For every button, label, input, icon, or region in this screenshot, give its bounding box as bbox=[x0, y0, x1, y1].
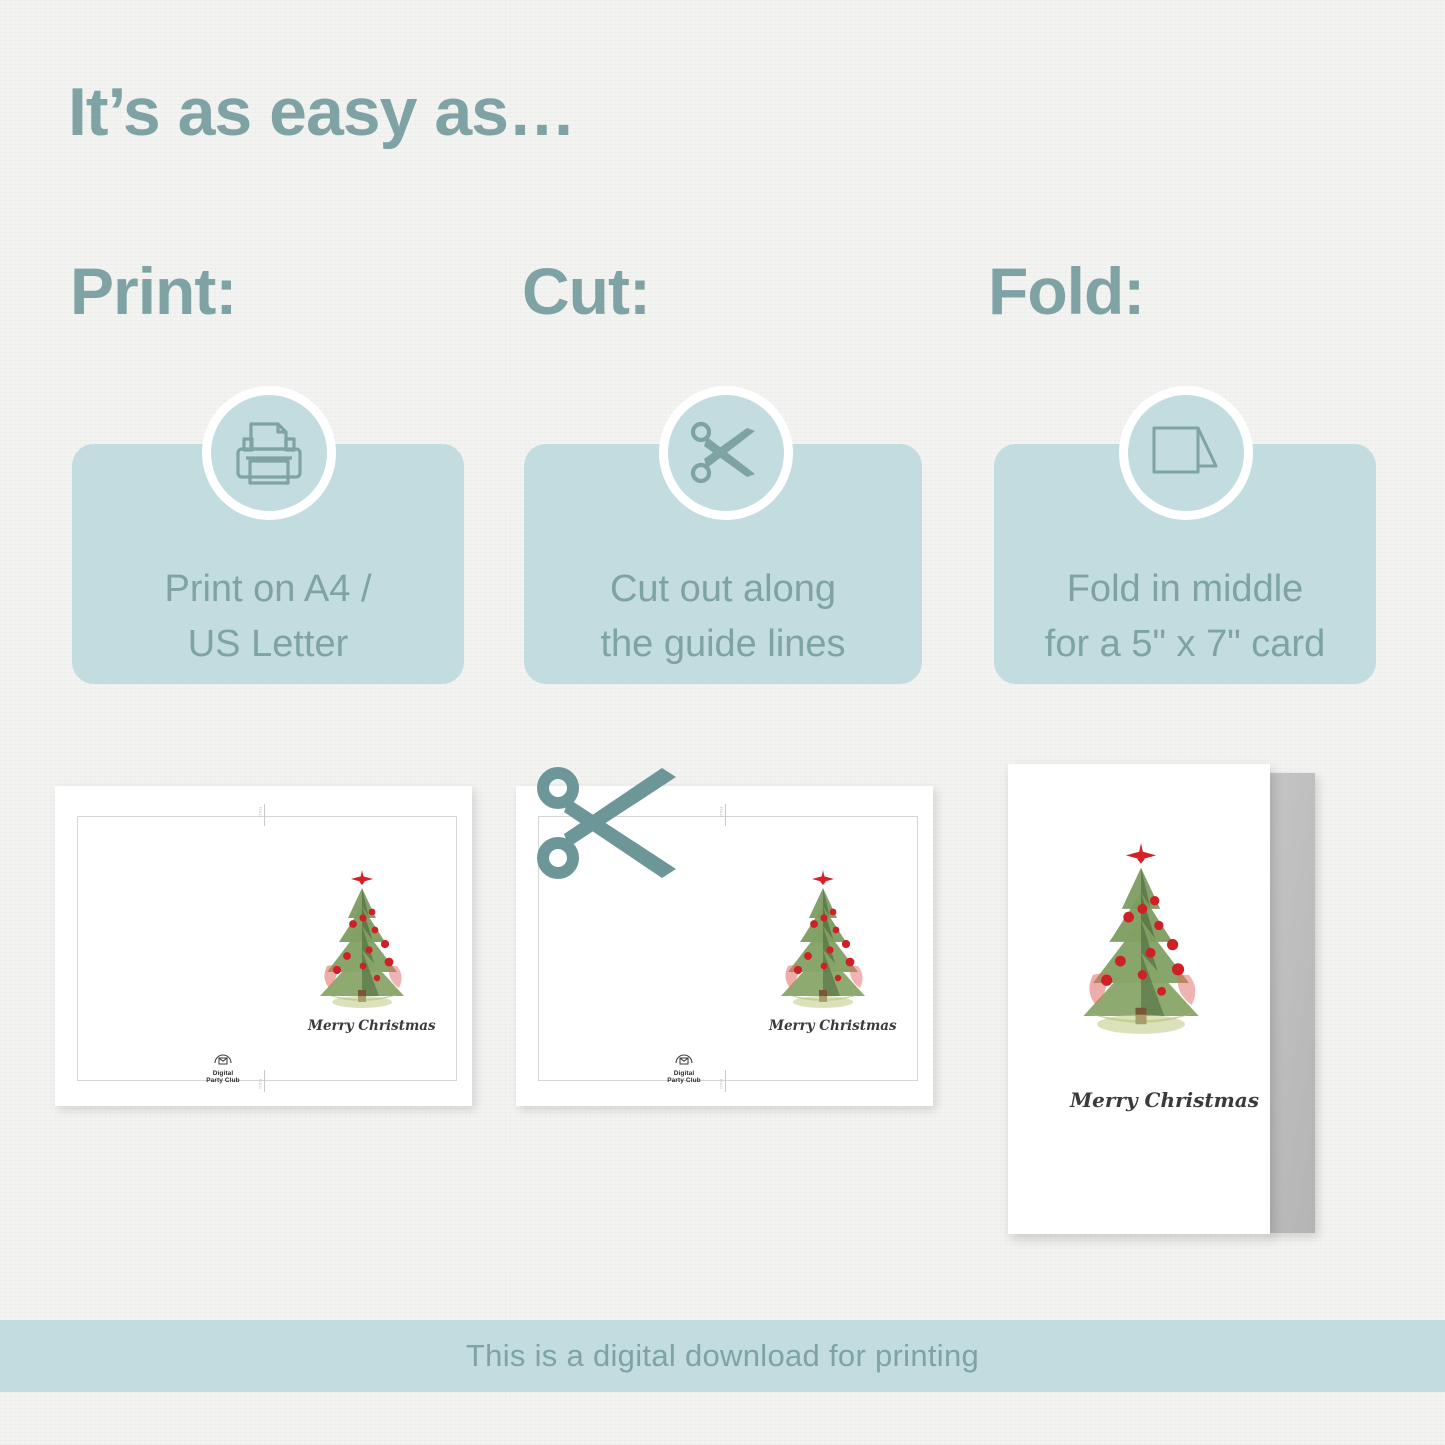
scissors-overlay-icon bbox=[536, 766, 686, 886]
printer-icon bbox=[230, 417, 308, 489]
brand-line2: Party Club bbox=[206, 1077, 240, 1084]
christmas-tree-illustration bbox=[303, 862, 421, 1012]
fold-label-top: FOLD bbox=[258, 807, 262, 817]
folded-card-back-panel bbox=[1265, 773, 1315, 1233]
scissors-icon-bubble bbox=[659, 386, 793, 520]
page-title: It’s as easy as… bbox=[68, 78, 575, 146]
fold-label-bottom: FOLD bbox=[719, 1079, 723, 1089]
fold-tick-top bbox=[725, 804, 726, 826]
fold-tick-bottom bbox=[264, 1070, 265, 1092]
brand-logo: Digital Party Club bbox=[654, 1053, 714, 1085]
step-card-cut-text: Cut out along the guide lines bbox=[524, 562, 922, 672]
step-print-line2: US Letter bbox=[72, 617, 464, 672]
envelope-logo-icon bbox=[673, 1053, 695, 1069]
footer-banner: This is a digital download for printing bbox=[0, 1320, 1445, 1392]
brand-logo: Digital Party Club bbox=[193, 1053, 253, 1085]
christmas-tree-illustration bbox=[764, 862, 882, 1012]
sheet-greeting: Merry Christmas bbox=[308, 1018, 436, 1034]
fold-tick-top bbox=[264, 804, 265, 826]
poster-canvas: It’s as easy as… Print: Cut: Fold: Print… bbox=[0, 0, 1445, 1445]
step-cut-line2: the guide lines bbox=[524, 617, 922, 672]
printer-icon-bubble bbox=[202, 386, 336, 520]
envelope-logo-icon bbox=[212, 1053, 234, 1069]
step-heading-print: Print: bbox=[70, 258, 236, 324]
printed-sheet-mockup: FOLD FOLD bbox=[55, 786, 472, 1106]
step-heading-fold: Fold: bbox=[988, 258, 1144, 324]
sheet-greeting: Merry Christmas bbox=[769, 1018, 897, 1034]
step-card-print-text: Print on A4 / US Letter bbox=[72, 562, 464, 672]
folded-card-front: Merry Christmas bbox=[1008, 764, 1270, 1234]
folded-card-icon bbox=[1148, 422, 1224, 484]
step-fold-line1: Fold in middle bbox=[994, 562, 1376, 617]
step-print-line1: Print on A4 / bbox=[72, 562, 464, 617]
christmas-tree-illustration bbox=[1060, 832, 1222, 1038]
step-cut-line1: Cut out along bbox=[524, 562, 922, 617]
fold-label-top: FOLD bbox=[719, 807, 723, 817]
folded-card-icon-bubble bbox=[1119, 386, 1253, 520]
fold-tick-bottom bbox=[725, 1070, 726, 1092]
step-fold-line2: for a 5" x 7" card bbox=[994, 617, 1376, 672]
step-heading-cut: Cut: bbox=[522, 258, 650, 324]
fold-label-bottom: FOLD bbox=[258, 1079, 262, 1089]
folded-card-greeting: Merry Christmas bbox=[1070, 1088, 1259, 1112]
footer-text: This is a digital download for printing bbox=[466, 1338, 979, 1374]
brand-line1: Digital bbox=[213, 1070, 234, 1077]
scissors-icon bbox=[689, 420, 763, 486]
brand-line2: Party Club bbox=[667, 1077, 701, 1084]
brand-line1: Digital bbox=[674, 1070, 695, 1077]
step-card-fold-text: Fold in middle for a 5" x 7" card bbox=[994, 562, 1376, 672]
